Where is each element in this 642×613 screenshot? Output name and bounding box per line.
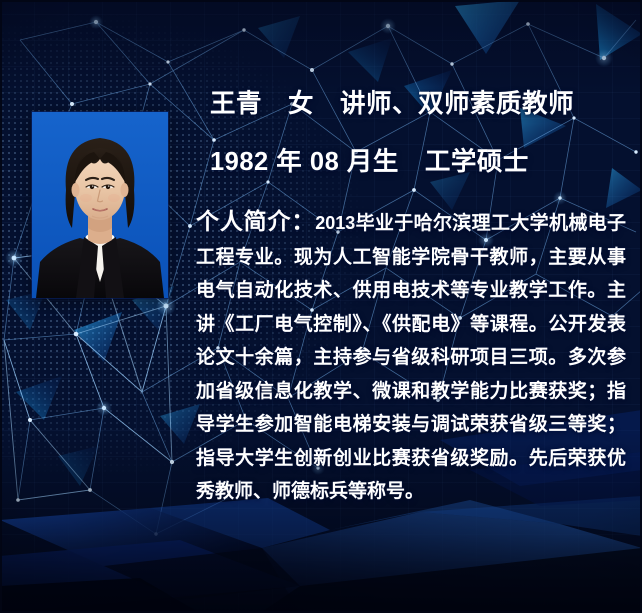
profile-text-column: 王青 女 讲师、双师素质教师 1982 年 08 月生 工学硕士 个人简介：20…	[196, 92, 626, 528]
headline-name-title: 王青 女 讲师、双师素质教师	[210, 92, 626, 118]
biography-paragraph: 个人简介：2013毕业于哈尔滨理工大学机械电子工程专业。现为人工智能学院骨干教师…	[196, 205, 626, 509]
biography-body: 毕业于哈尔滨理工大学机械电子工程专业。现为人工智能学院骨干教师，主要从事电气自动…	[196, 213, 626, 502]
biography-label: 个人简介：	[196, 208, 315, 234]
headline-birth-degree: 1982 年 08 月生 工学硕士	[210, 150, 626, 176]
teacher-portrait-photo	[32, 112, 168, 298]
biography-graduation-year: 2013	[315, 213, 355, 233]
teacher-profile-poster: 王青 女 讲师、双师素质教师 1982 年 08 月生 工学硕士 个人简介：20…	[0, 0, 642, 613]
